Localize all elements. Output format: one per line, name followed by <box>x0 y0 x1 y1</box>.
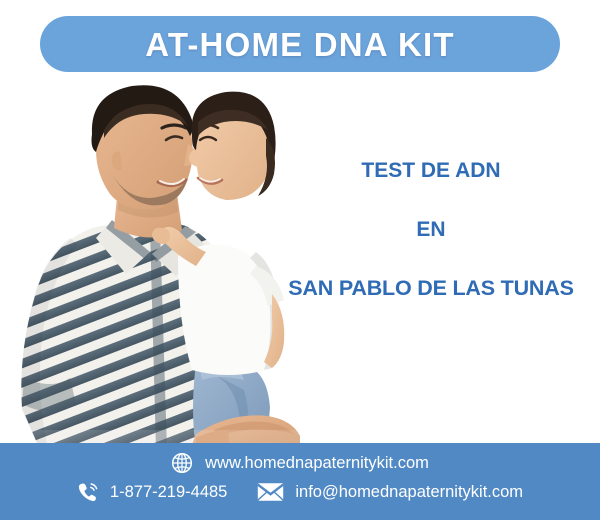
footer-item-phone[interactable]: 1-877-219-4485 <box>77 481 227 503</box>
website-label: www.homednapaternitykit.com <box>205 455 429 472</box>
headline-line-2: EN <box>262 219 600 240</box>
footer-row-contact: 1-877-219-4485 info@homednapaternitykit.… <box>0 481 600 503</box>
headline-block: TEST DE ADN EN SAN PABLO DE LAS TUNAS <box>262 160 600 300</box>
footer-bar: www.homednapaternitykit.com 1-877-219-44… <box>0 443 600 520</box>
family-photo <box>0 78 300 450</box>
phone-label: 1-877-219-4485 <box>110 484 227 501</box>
phone-icon <box>77 481 99 503</box>
poster-canvas: AT-HOME DNA KIT TEST DE ADN EN SAN PABLO… <box>0 0 600 520</box>
headline-line-3: SAN PABLO DE LAS TUNAS <box>262 278 600 300</box>
globe-icon <box>171 452 193 474</box>
page-title: AT-HOME DNA KIT <box>145 28 454 61</box>
footer-item-email[interactable]: info@homednapaternitykit.com <box>257 482 523 502</box>
headline-line-1: TEST DE ADN <box>262 160 600 181</box>
email-label: info@homednapaternitykit.com <box>295 484 523 501</box>
footer-item-website[interactable]: www.homednapaternitykit.com <box>171 452 429 474</box>
header-banner: AT-HOME DNA KIT <box>40 16 560 72</box>
envelope-icon <box>257 482 284 502</box>
footer-row-website: www.homednapaternitykit.com <box>0 452 600 474</box>
